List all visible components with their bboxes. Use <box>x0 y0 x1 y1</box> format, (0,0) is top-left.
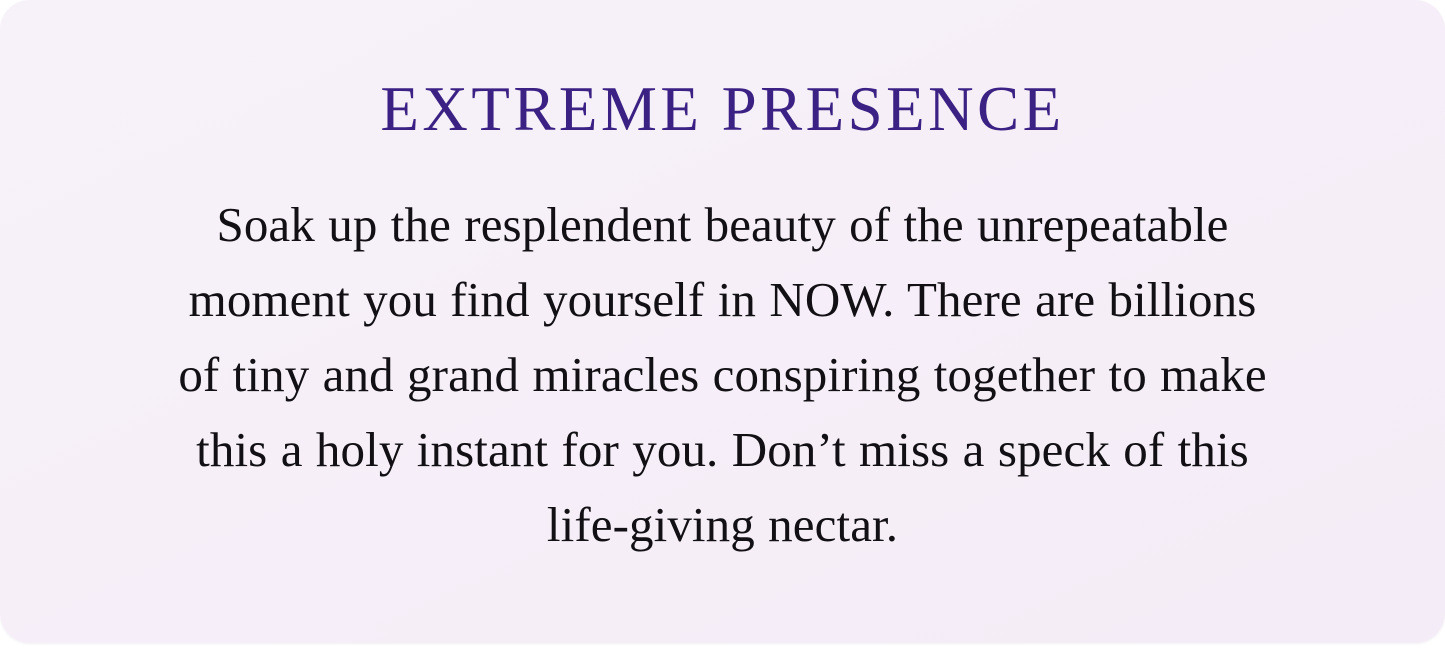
quote-line: moment you find yourself in NOW. There a… <box>78 262 1368 337</box>
page-title: EXTREME PRESENCE <box>78 78 1368 141</box>
quote-body: Soak up the resplendent beauty of the un… <box>78 141 1368 562</box>
card-frame: EXTREME PRESENCE Soak up the resplendent… <box>0 0 1445 650</box>
quote-line: Soak up the resplendent beauty of the un… <box>78 187 1368 262</box>
quote-line: this a holy instant for you. Don’t miss … <box>78 412 1368 487</box>
quote-card: EXTREME PRESENCE Soak up the resplendent… <box>0 0 1445 643</box>
quote-line: of tiny and grand miracles conspiring to… <box>78 337 1368 412</box>
quote-line: life-giving nectar. <box>78 487 1368 562</box>
card-content: EXTREME PRESENCE Soak up the resplendent… <box>78 0 1368 562</box>
